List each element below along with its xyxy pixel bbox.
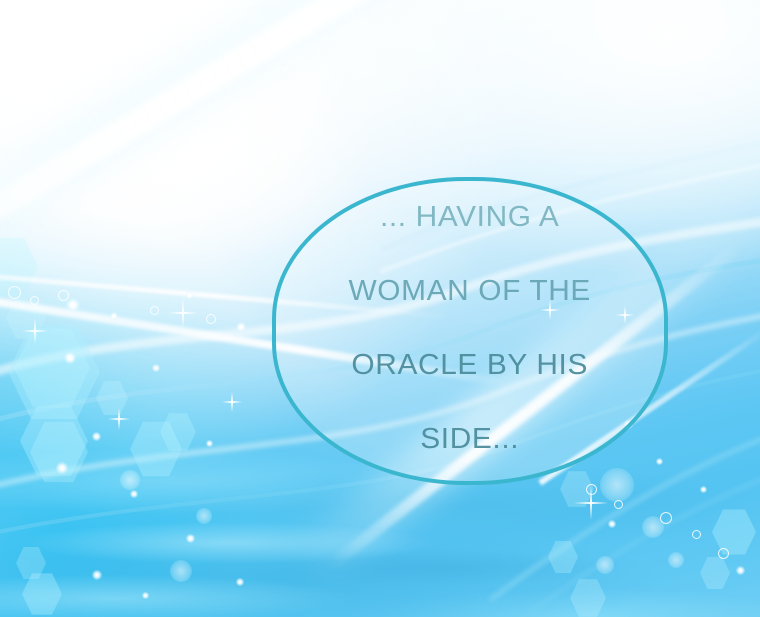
bubble-ring [614, 500, 623, 509]
sparkle-dot [142, 592, 149, 599]
speech-bubble[interactable]: ... HAVING A WOMAN OF THE ORACLE BY HIS … [272, 177, 668, 485]
sparkle-dot [736, 566, 745, 575]
sparkle-dot [92, 432, 101, 441]
sparkle-dot [608, 520, 616, 528]
bubble-ring [150, 306, 159, 315]
star-sparkle [222, 392, 242, 412]
bokeh-circle [668, 552, 684, 568]
hexagon-bokeh [548, 540, 578, 574]
bokeh-circle [170, 560, 192, 582]
sparkle-dot [656, 458, 663, 465]
hexagon-bokeh [700, 556, 730, 590]
speech-line-3: ORACLE BY HIS [349, 347, 592, 384]
speech-bubble-text: ... HAVING A WOMAN OF THE ORACLE BY HIS … [349, 162, 592, 501]
speech-line-4: SIDE... [349, 421, 592, 458]
bubble-ring [30, 296, 39, 305]
bubble-ring [718, 548, 729, 559]
sparkle-dot [130, 490, 138, 498]
bokeh-circle [596, 556, 614, 574]
star-sparkle [22, 318, 48, 344]
bokeh-circle [196, 508, 212, 524]
speech-line-1: ... HAVING A [349, 199, 592, 236]
sparkle-dot [64, 352, 76, 364]
sparkle-dot [92, 570, 102, 580]
star-sparkle [168, 298, 198, 328]
speech-line-2: WOMAN OF THE [349, 273, 592, 310]
bubble-ring [8, 286, 21, 299]
sparkle-dot [236, 322, 246, 332]
bubble-ring [660, 512, 672, 524]
bubble-ring [206, 314, 216, 324]
sparkle-dot [66, 298, 80, 312]
sparkle-dot [206, 440, 213, 447]
bokeh-circle [120, 470, 140, 490]
sparkle-dot [186, 534, 195, 543]
star-sparkle [108, 408, 130, 430]
sparkle-dot [110, 312, 118, 320]
comic-panel: ... HAVING A WOMAN OF THE ORACLE BY HIS … [0, 0, 760, 617]
sparkle-dot [56, 462, 68, 474]
sparkle-dot [236, 578, 244, 586]
sparkle-dot [700, 486, 707, 493]
hexagon-bokeh [570, 578, 606, 617]
bubble-ring [692, 530, 701, 539]
sparkle-dot [152, 364, 160, 372]
